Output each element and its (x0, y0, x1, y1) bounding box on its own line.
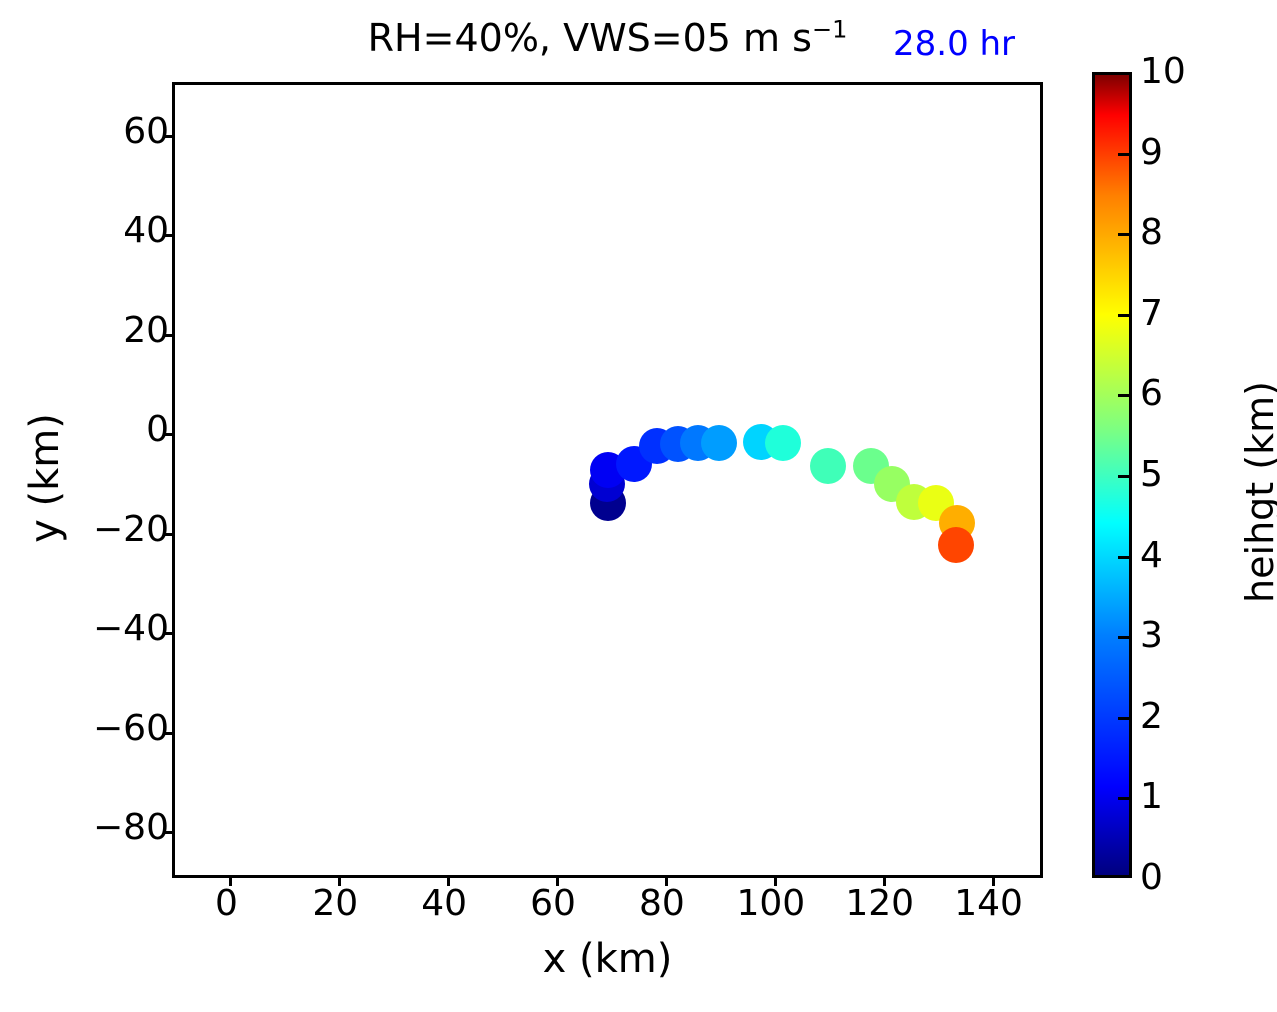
y-axis-label: y (km) (22, 328, 68, 628)
colorbar-tick (1118, 556, 1129, 559)
scatter-point (701, 425, 737, 461)
colorbar-tick-label: 7 (1140, 296, 1163, 332)
x-axis-tick-label: 100 (711, 886, 831, 922)
colorbar-tick-label: 5 (1140, 457, 1163, 493)
x-axis-label: x (km) (172, 936, 1043, 982)
x-axis-tick-label: 60 (493, 886, 613, 922)
colorbar-tick-label: 9 (1140, 135, 1163, 171)
colorbar (1092, 72, 1132, 878)
colorbar-tick-label: 10 (1140, 54, 1186, 90)
x-axis-tick-label: 40 (384, 886, 504, 922)
colorbar-tick-label: 6 (1140, 376, 1163, 412)
y-axis-tick-label: −40 (93, 611, 169, 647)
plot-axes (172, 82, 1043, 878)
x-axis-tick-label: 80 (602, 886, 722, 922)
colorbar-tick (1118, 636, 1129, 639)
colorbar-tick-label: 2 (1140, 699, 1163, 735)
scatter-plot-area (175, 85, 1040, 875)
colorbar-label: heihgt (km) (1238, 332, 1277, 652)
colorbar-tick (1118, 717, 1129, 720)
y-axis-tick-label: 20 (123, 313, 169, 349)
time-annotation: 28.0 hr (893, 24, 1015, 64)
x-axis-tick-label: 0 (166, 886, 286, 922)
scatter-point (810, 448, 846, 484)
y-axis-tick-label: 60 (123, 114, 169, 150)
plot-title-exponent: −1 (812, 15, 847, 43)
x-axis-tick-label: 20 (275, 886, 395, 922)
colorbar-tick-label: 4 (1140, 538, 1163, 574)
y-axis-tick-label: 0 (146, 412, 169, 448)
x-axis-tick-label: 140 (929, 886, 1049, 922)
colorbar-tick (1118, 475, 1129, 478)
plot-title-text: RH=40%, VWS=05 m s (368, 16, 812, 60)
scatter-point (765, 425, 801, 461)
colorbar-tick (1118, 153, 1129, 156)
x-axis-tick-label: 120 (820, 886, 940, 922)
colorbar-tick-label: 1 (1140, 779, 1163, 815)
colorbar-tick-label: 0 (1140, 860, 1163, 896)
scatter-point (938, 527, 974, 563)
colorbar-tick (1118, 314, 1129, 317)
y-axis-tick-label: −20 (93, 512, 169, 548)
figure-canvas: RH=40%, VWS=05 m s−1 28.0 hr x (km) y (k… (0, 0, 1277, 1012)
y-axis-tick-label: −60 (93, 711, 169, 747)
colorbar-tick-label: 3 (1140, 618, 1163, 654)
y-axis-tick-label: 40 (123, 213, 169, 249)
colorbar-tick (1118, 797, 1129, 800)
colorbar-tick-label: 8 (1140, 215, 1163, 251)
colorbar-tick (1118, 394, 1129, 397)
colorbar-tick (1118, 233, 1129, 236)
y-axis-tick-label: −80 (93, 810, 169, 846)
